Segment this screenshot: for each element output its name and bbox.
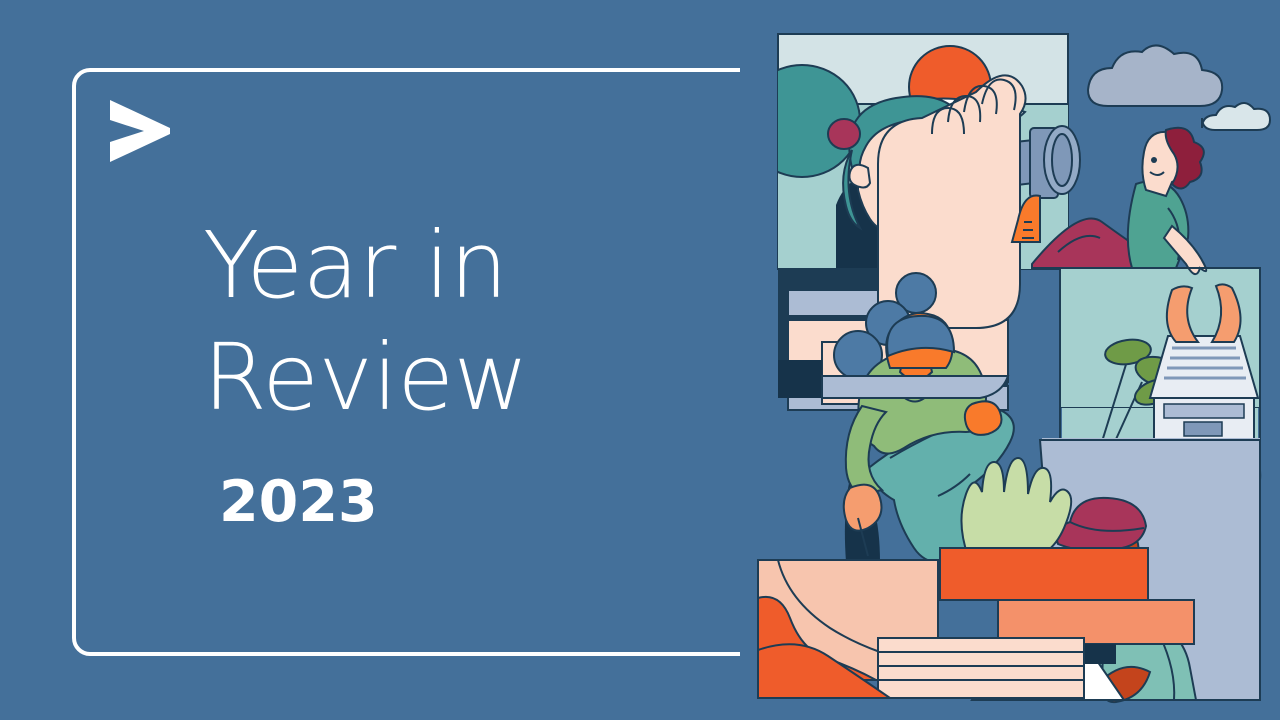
collage-svg	[740, 0, 1280, 720]
seated-foot	[965, 401, 1002, 435]
year-label: 2023	[219, 470, 378, 534]
reclining-eye	[1151, 157, 1157, 163]
page-title: Year in Review	[203, 210, 723, 434]
year-in-review-collage	[740, 0, 1280, 720]
chevron-right-icon	[104, 92, 174, 170]
chevron-right-logo	[104, 92, 174, 170]
upper-steel-sweep	[822, 376, 1008, 398]
orange-bar-top	[940, 548, 1148, 600]
hair-bun	[828, 119, 860, 149]
laptop-topdown-icon	[1150, 336, 1258, 440]
upper-navy-block	[778, 360, 822, 398]
slide-root: Year in Review 2023	[0, 0, 1280, 720]
striped-block	[878, 638, 1084, 698]
